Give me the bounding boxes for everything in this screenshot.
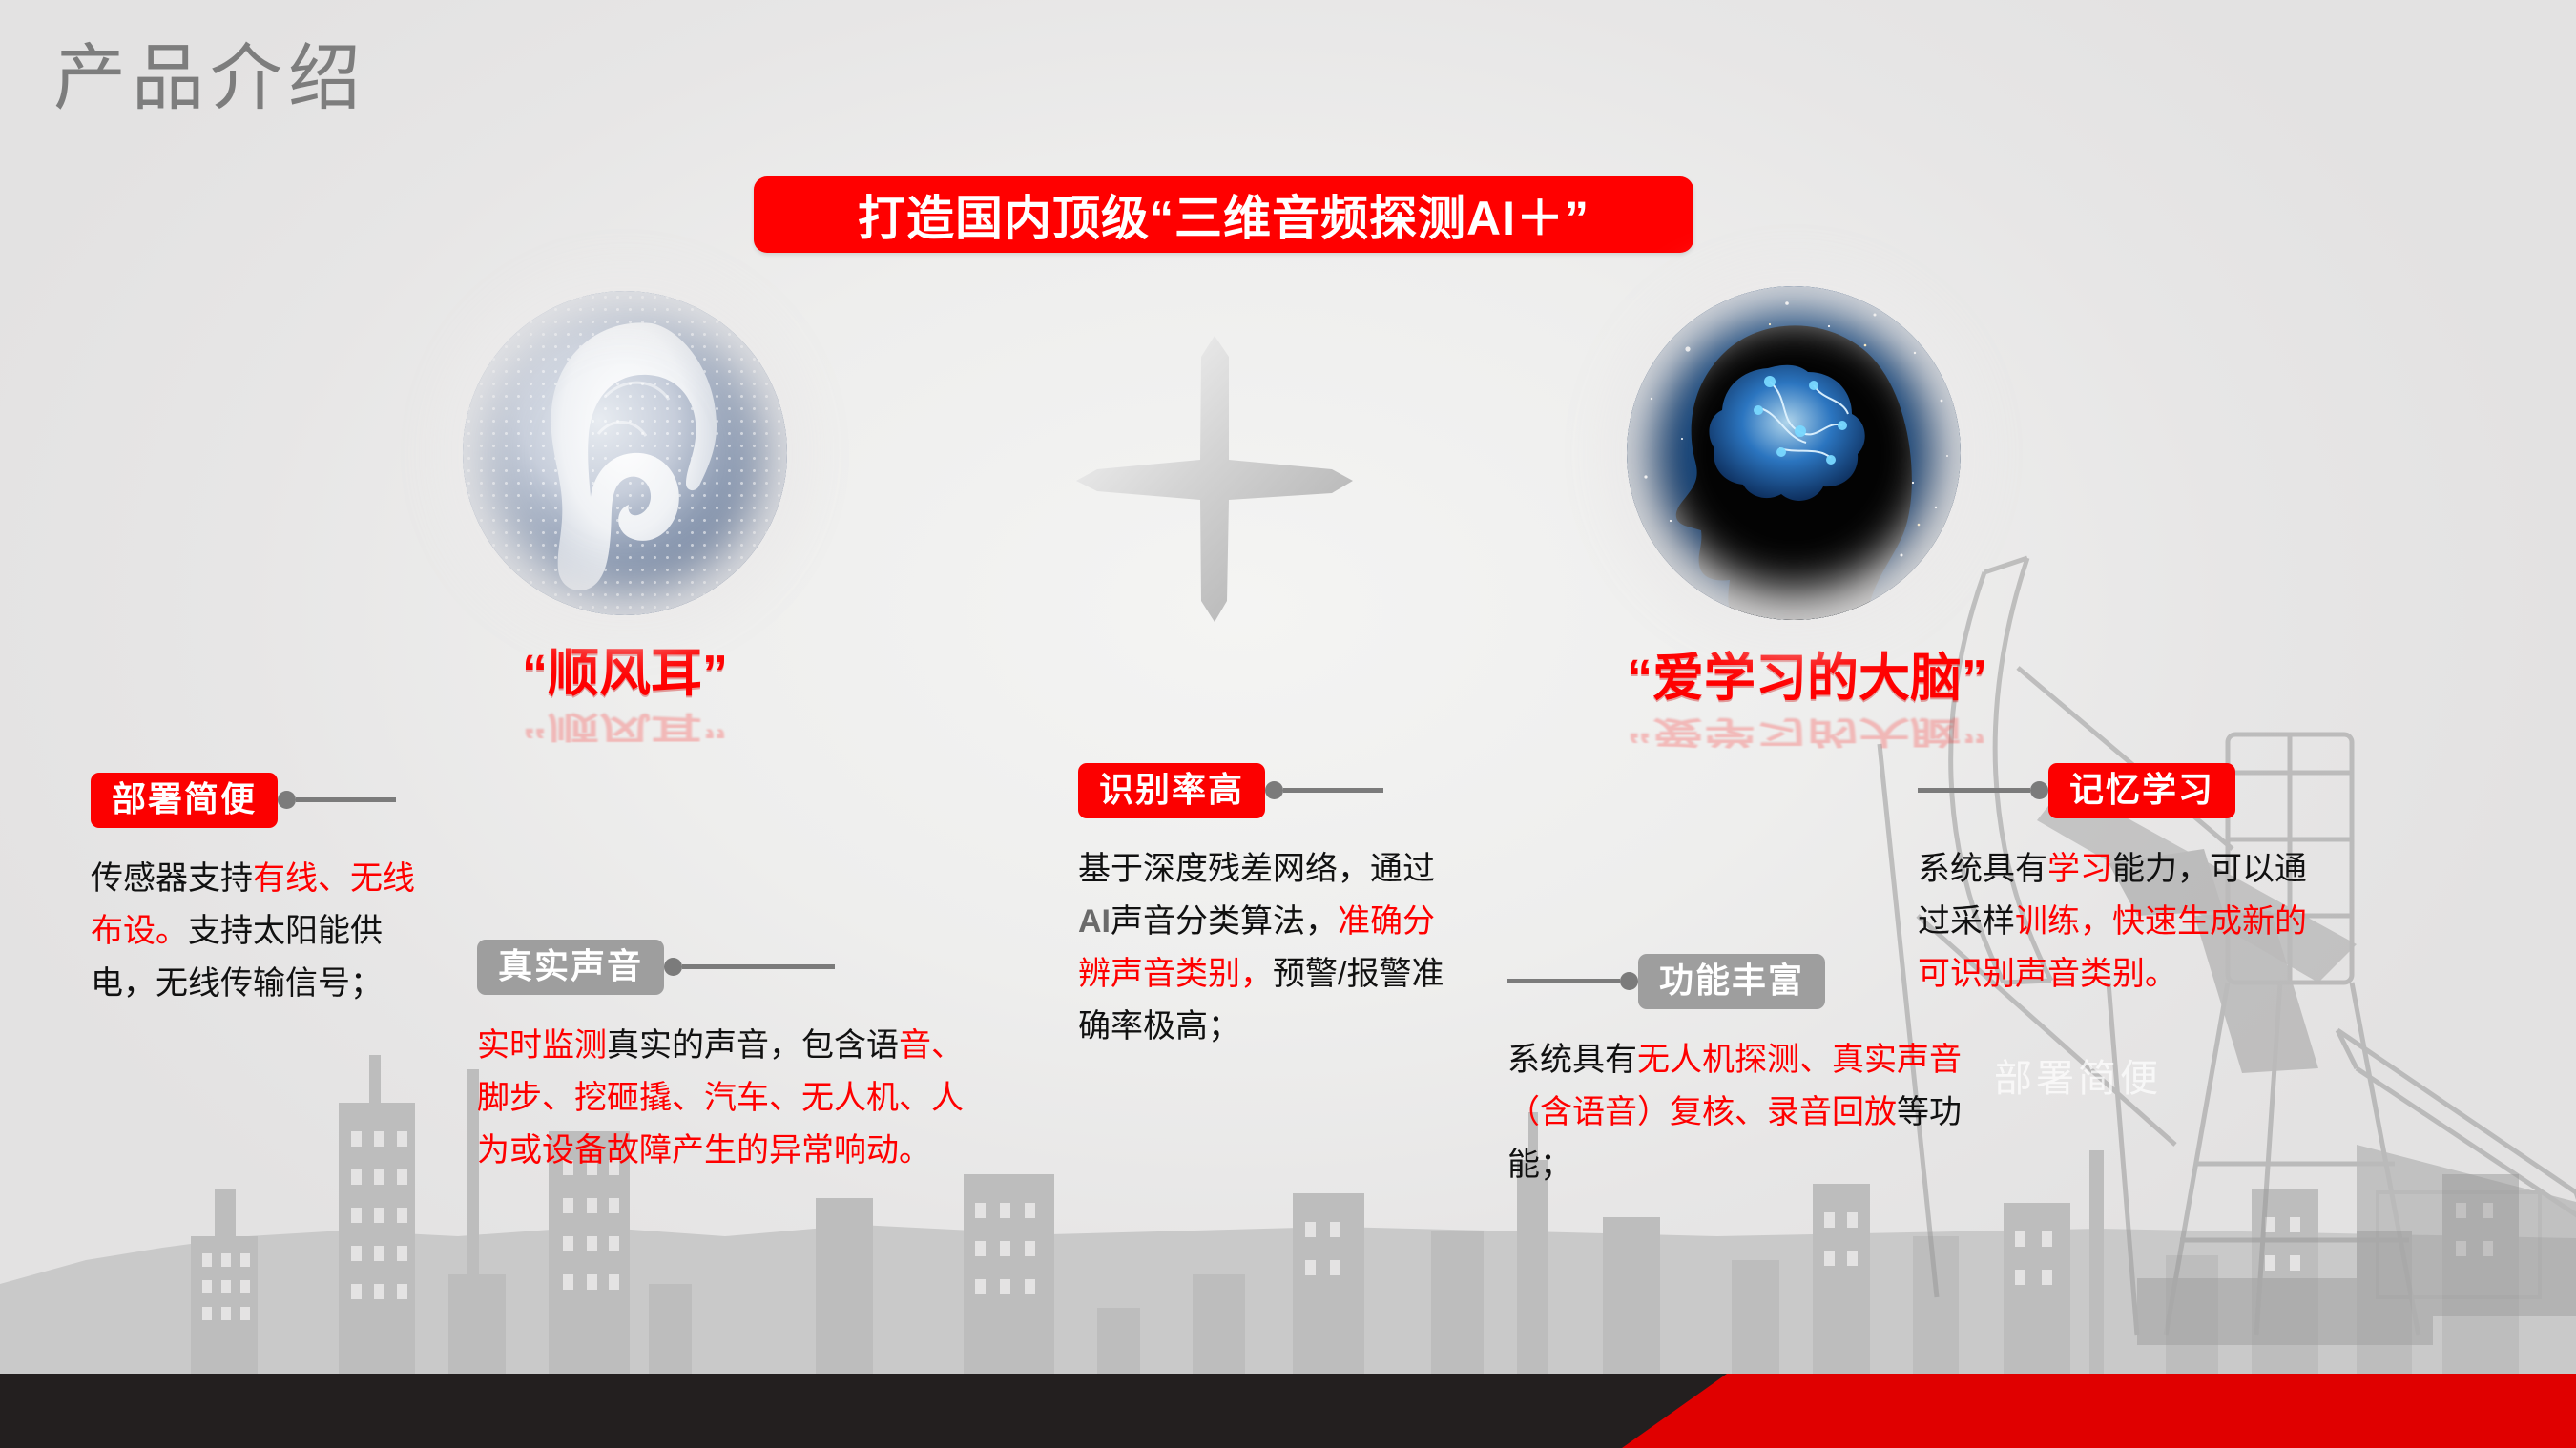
connector-stroke: [682, 964, 835, 969]
caption-reflection: “顺风耳”: [463, 708, 787, 753]
feature-text-deploy: 传感器支持有线、无线布设。支持太阳能供电，无线传输信号；: [91, 853, 444, 1010]
page-title: 产品介绍: [53, 19, 366, 124]
feature-block-functions: 功能丰富 系统具有无人机探测、真实声音（含语音）复核、录音回放等功能；: [1507, 954, 1965, 1191]
feature-header-deploy: 部署简便: [91, 773, 444, 828]
text-run-highlight: 实时监测: [477, 1027, 607, 1064]
text-run: 传感器支持: [91, 860, 253, 897]
circle-vignette: [1627, 286, 1961, 620]
connector-line-memory: [1918, 781, 2048, 799]
feature-header-accuracy: 识别率高: [1078, 763, 1460, 818]
connector-stroke: [1918, 788, 2030, 793]
connector-line-deploy: [278, 791, 396, 809]
feature-block-deploy: 部署简便 传感器支持有线、无线布设。支持太阳能供电，无线传输信号；: [91, 773, 444, 1010]
badge-deploy[interactable]: 部署简便: [91, 773, 278, 828]
headline-banner-text: 打造国内顶级“三维音频探测AI＋”: [858, 180, 1589, 249]
circle-vignette: [463, 291, 787, 615]
footer-dark-band: [0, 1374, 2576, 1448]
text-run: 系统具有: [1918, 851, 2047, 887]
feature-text-memory: 系统具有学习能力，可以通过采样训练，快速生成新的可识别声音类别。: [1918, 843, 2318, 1001]
text-run-ai: AI: [1078, 903, 1111, 940]
text-run: 真实的声音，包含语: [607, 1027, 899, 1064]
connector-stroke: [296, 797, 396, 802]
text-run-highlight: 学习: [2047, 851, 2112, 887]
feature-block-memory: 记忆学习 系统具有学习能力，可以通过采样训练，快速生成新的可识别声音类别。: [1918, 763, 2318, 1001]
badge-accuracy[interactable]: 识别率高: [1078, 763, 1265, 818]
badge-realsound[interactable]: 真实声音: [477, 940, 664, 995]
background-watermark-text: 部署简便: [1994, 1047, 2162, 1103]
ear-image-circle: [463, 291, 787, 615]
caption-reflection: “爱学习的大脑”: [1627, 713, 1987, 757]
text-run: 系统具有: [1507, 1042, 1637, 1078]
connector-dot: [664, 958, 682, 976]
connector-stroke: [1283, 788, 1383, 793]
feature-header-realsound: 真实声音: [477, 940, 973, 995]
hero-brain: “爱学习的大脑” “爱学习的大脑”: [1627, 286, 1987, 773]
hero-ear: “顺风耳” “顺风耳”: [463, 291, 787, 768]
hero-brain-caption: “爱学习的大脑” “爱学习的大脑”: [1627, 635, 1987, 773]
connector-dot: [1620, 972, 1638, 990]
connector-stroke: [1507, 979, 1620, 983]
connector-line-accuracy: [1265, 781, 1383, 799]
badge-functions[interactable]: 功能丰富: [1638, 954, 1825, 1009]
hero-ear-caption: “顺风耳” “顺风耳”: [463, 631, 787, 768]
text-run: 声音分类算法，: [1111, 903, 1338, 940]
feature-header-memory: 记忆学习: [1918, 763, 2318, 818]
feature-text-realsound: 实时监测真实的声音，包含语音、脚步、挖砸撬、汽车、无人机、人为或设备故障产生的异…: [477, 1020, 973, 1177]
feature-block-realsound: 真实声音 实时监测真实的声音，包含语音、脚步、挖砸撬、汽车、无人机、人为或设备故…: [477, 940, 973, 1177]
slide-canvas: 部署简便 产品介绍 打造国内顶级“三维音频探测AI＋”: [0, 0, 2576, 1448]
headline-banner: 打造国内顶级“三维音频探测AI＋”: [754, 176, 1693, 253]
badge-memory[interactable]: 记忆学习: [2048, 763, 2235, 818]
text-run: 基于深度残差网络，通过: [1078, 851, 1435, 887]
feature-text-accuracy: 基于深度残差网络，通过AI声音分类算法，准确分辨声音类别，预警/报警准确率极高；: [1078, 843, 1460, 1053]
brain-image-circle: [1627, 286, 1961, 620]
footer-red-accent: [1622, 1374, 2576, 1448]
feature-header-functions: 功能丰富: [1507, 954, 1965, 1009]
feature-block-accuracy: 识别率高 基于深度残差网络，通过AI声音分类算法，准确分辨声音类别，预警/报警准…: [1078, 763, 1460, 1053]
connector-dot: [278, 791, 296, 809]
connector-dot: [2030, 781, 2048, 799]
city-skyline-illustration: [0, 998, 2576, 1379]
four-point-star-icon: [1076, 336, 1353, 622]
connector-line-realsound: [664, 958, 835, 976]
feature-text-functions: 系统具有无人机探测、真实声音（含语音）复核、录音回放等功能；: [1507, 1034, 1965, 1191]
connector-dot: [1265, 781, 1283, 799]
connector-line-functions: [1507, 972, 1638, 990]
